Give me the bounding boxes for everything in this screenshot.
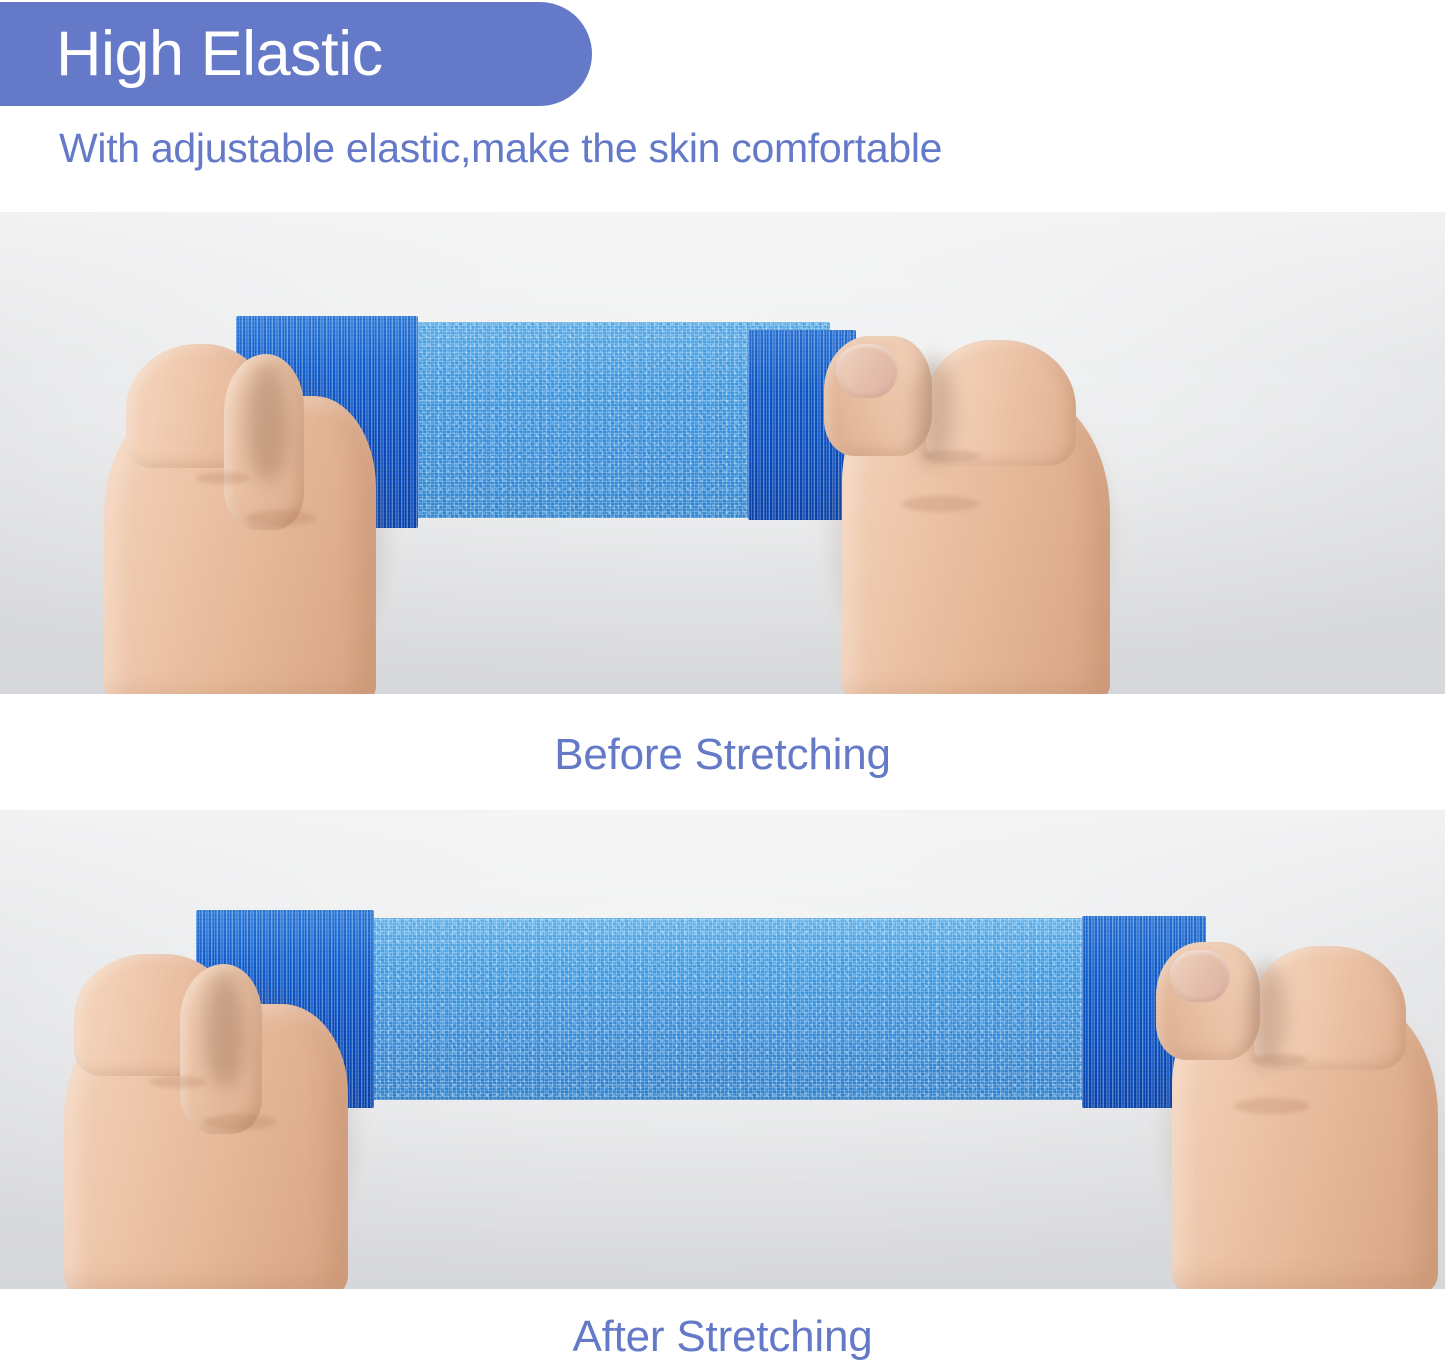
knuckle-crease	[150, 1076, 206, 1088]
right-hand-grip	[1142, 938, 1445, 1289]
caption-before-stretching: Before Stretching	[0, 733, 1445, 777]
finger-gap-shadow	[246, 362, 290, 482]
knuckle-crease	[902, 496, 980, 512]
header-badge: High Elastic	[0, 2, 592, 106]
header-badge-label: High Elastic	[56, 23, 383, 86]
knuckle-crease	[246, 510, 316, 526]
photo-before-stretching	[0, 212, 1445, 694]
thumbnail	[836, 344, 898, 398]
caption-after-stretching: After Stretching	[0, 1315, 1445, 1359]
finger-gap-shadow	[204, 972, 246, 1088]
thumbnail	[1170, 950, 1230, 1002]
knuckle-crease	[204, 1114, 276, 1130]
finger-gap-shadow	[1246, 962, 1286, 1068]
bandage-strip-stretched-section	[360, 918, 1180, 1100]
knuckle-crease	[196, 472, 250, 484]
knuckle-crease	[1234, 1098, 1310, 1114]
header-subtitle: With adjustable elastic,make the skin co…	[59, 126, 942, 171]
left-hand-grip	[58, 944, 368, 1289]
finger-gap-shadow	[914, 356, 954, 466]
photo-after-stretching	[0, 810, 1445, 1289]
right-hand-grip	[806, 330, 1122, 694]
infographic-page: High Elastic With adjustable elastic,mak…	[0, 0, 1445, 1367]
left-hand-grip	[96, 332, 396, 694]
